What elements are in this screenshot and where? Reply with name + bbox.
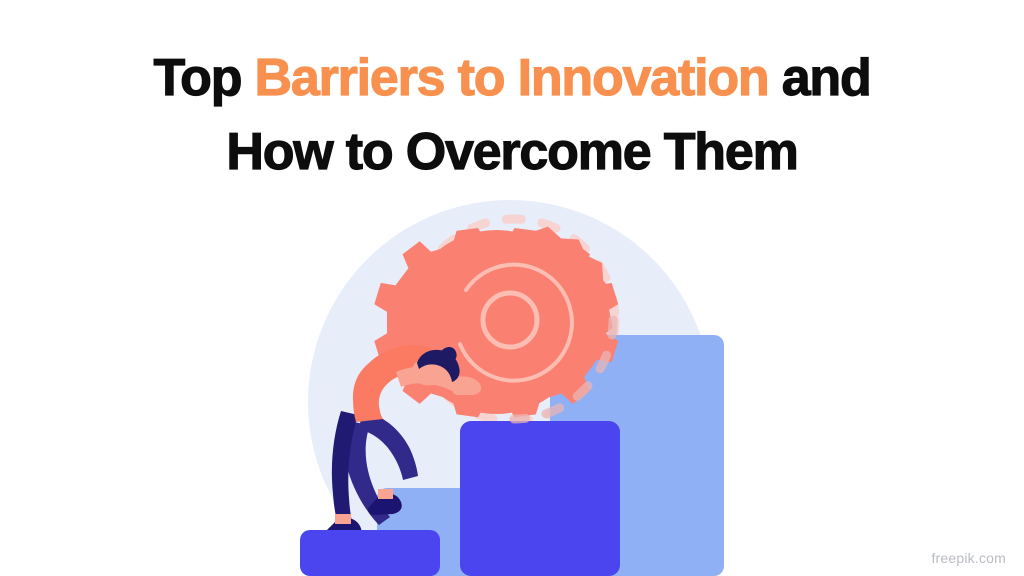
title-accent-text: Barriers to Innovation [255, 49, 769, 107]
bar-3 [460, 421, 620, 576]
title-line-1: Top Barriers to Innovation and [0, 52, 1024, 104]
title-line-2: How to Overcome Them [0, 126, 1024, 178]
bar-1 [300, 530, 440, 576]
slide-canvas: Top Barriers to Innovation and How to Ov… [0, 0, 1024, 576]
page-title: Top Barriers to Innovation and How to Ov… [0, 52, 1024, 178]
title-text-before: Top [153, 49, 254, 107]
title-text-after: and [768, 49, 870, 107]
freepik-watermark: freepik.com [931, 550, 1006, 566]
person-back-ankle [378, 489, 393, 499]
person-front-ankle [335, 514, 351, 524]
